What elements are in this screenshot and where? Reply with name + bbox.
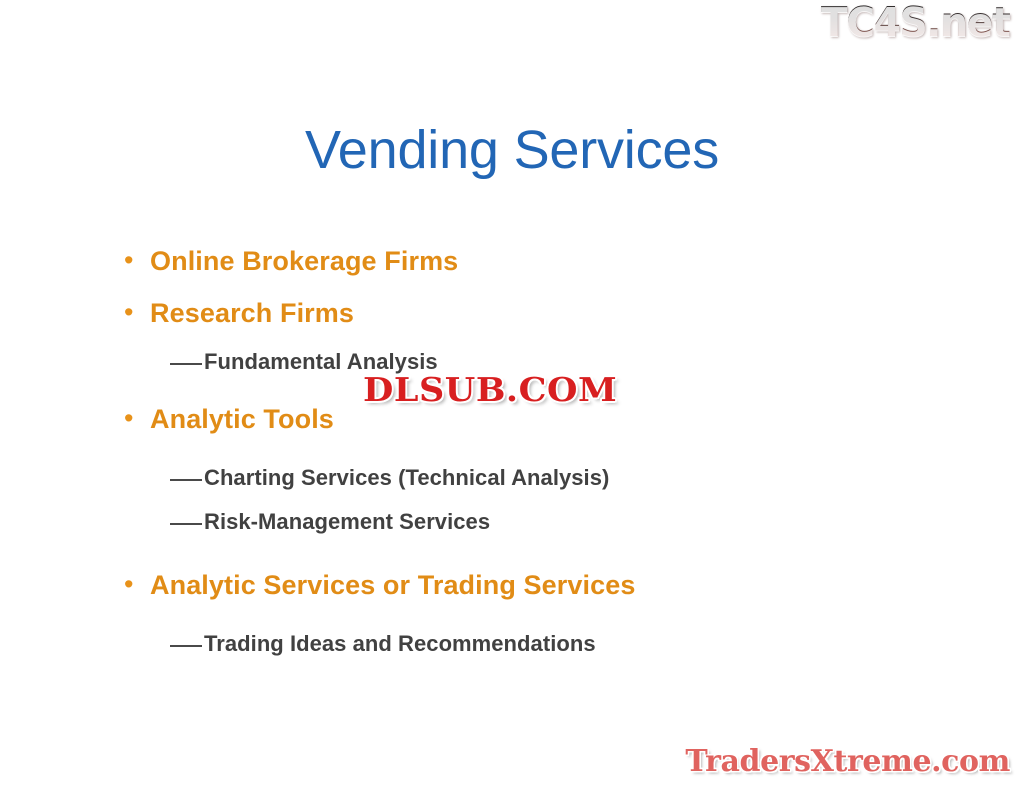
bullet-dot-icon: • [118, 405, 150, 432]
slide-canvas: TC4S.net Vending Services • Online Broke… [0, 0, 1024, 791]
row-spacer [118, 612, 938, 622]
page-title: Vending Services [0, 122, 1024, 179]
em-dash-icon [170, 645, 202, 647]
list-item-label: Research Firms [150, 299, 354, 329]
row-spacer [118, 544, 938, 560]
bullet-list: • Online Brokerage Firms • Research Firm… [118, 236, 938, 666]
sub-list-item: Risk-Management Services [118, 500, 938, 544]
em-dash-icon [170, 523, 202, 525]
bullet-dot-icon: • [118, 571, 150, 598]
sub-list-item-label: Risk-Management Services [204, 510, 490, 534]
em-dash-icon [170, 479, 202, 481]
list-item-label: Analytic Tools [150, 405, 334, 435]
sub-list-item-label: Charting Services (Technical Analysis) [204, 466, 609, 490]
sub-list-item: Trading Ideas and Recommendations [118, 622, 938, 666]
bullet-dot-icon: • [118, 247, 150, 274]
tradersxtreme-footer-logo: TradersXtreme.com [685, 747, 1010, 777]
em-dash-icon [170, 363, 202, 365]
list-item: • Research Firms [118, 288, 938, 340]
sub-list-item: Charting Services (Technical Analysis) [118, 456, 938, 500]
list-item: • Analytic Services or Trading Services [118, 560, 938, 612]
dlsub-watermark: DLSUB.COM [363, 373, 617, 406]
tc4s-brand-logo: TC4S.net [821, 2, 1010, 43]
list-item: • Online Brokerage Firms [118, 236, 938, 288]
list-item-label: Online Brokerage Firms [150, 247, 458, 277]
list-item-label: Analytic Services or Trading Services [150, 571, 635, 601]
sub-list-item-label: Trading Ideas and Recommendations [204, 632, 596, 656]
bullet-dot-icon: • [118, 299, 150, 326]
row-spacer [118, 446, 938, 456]
